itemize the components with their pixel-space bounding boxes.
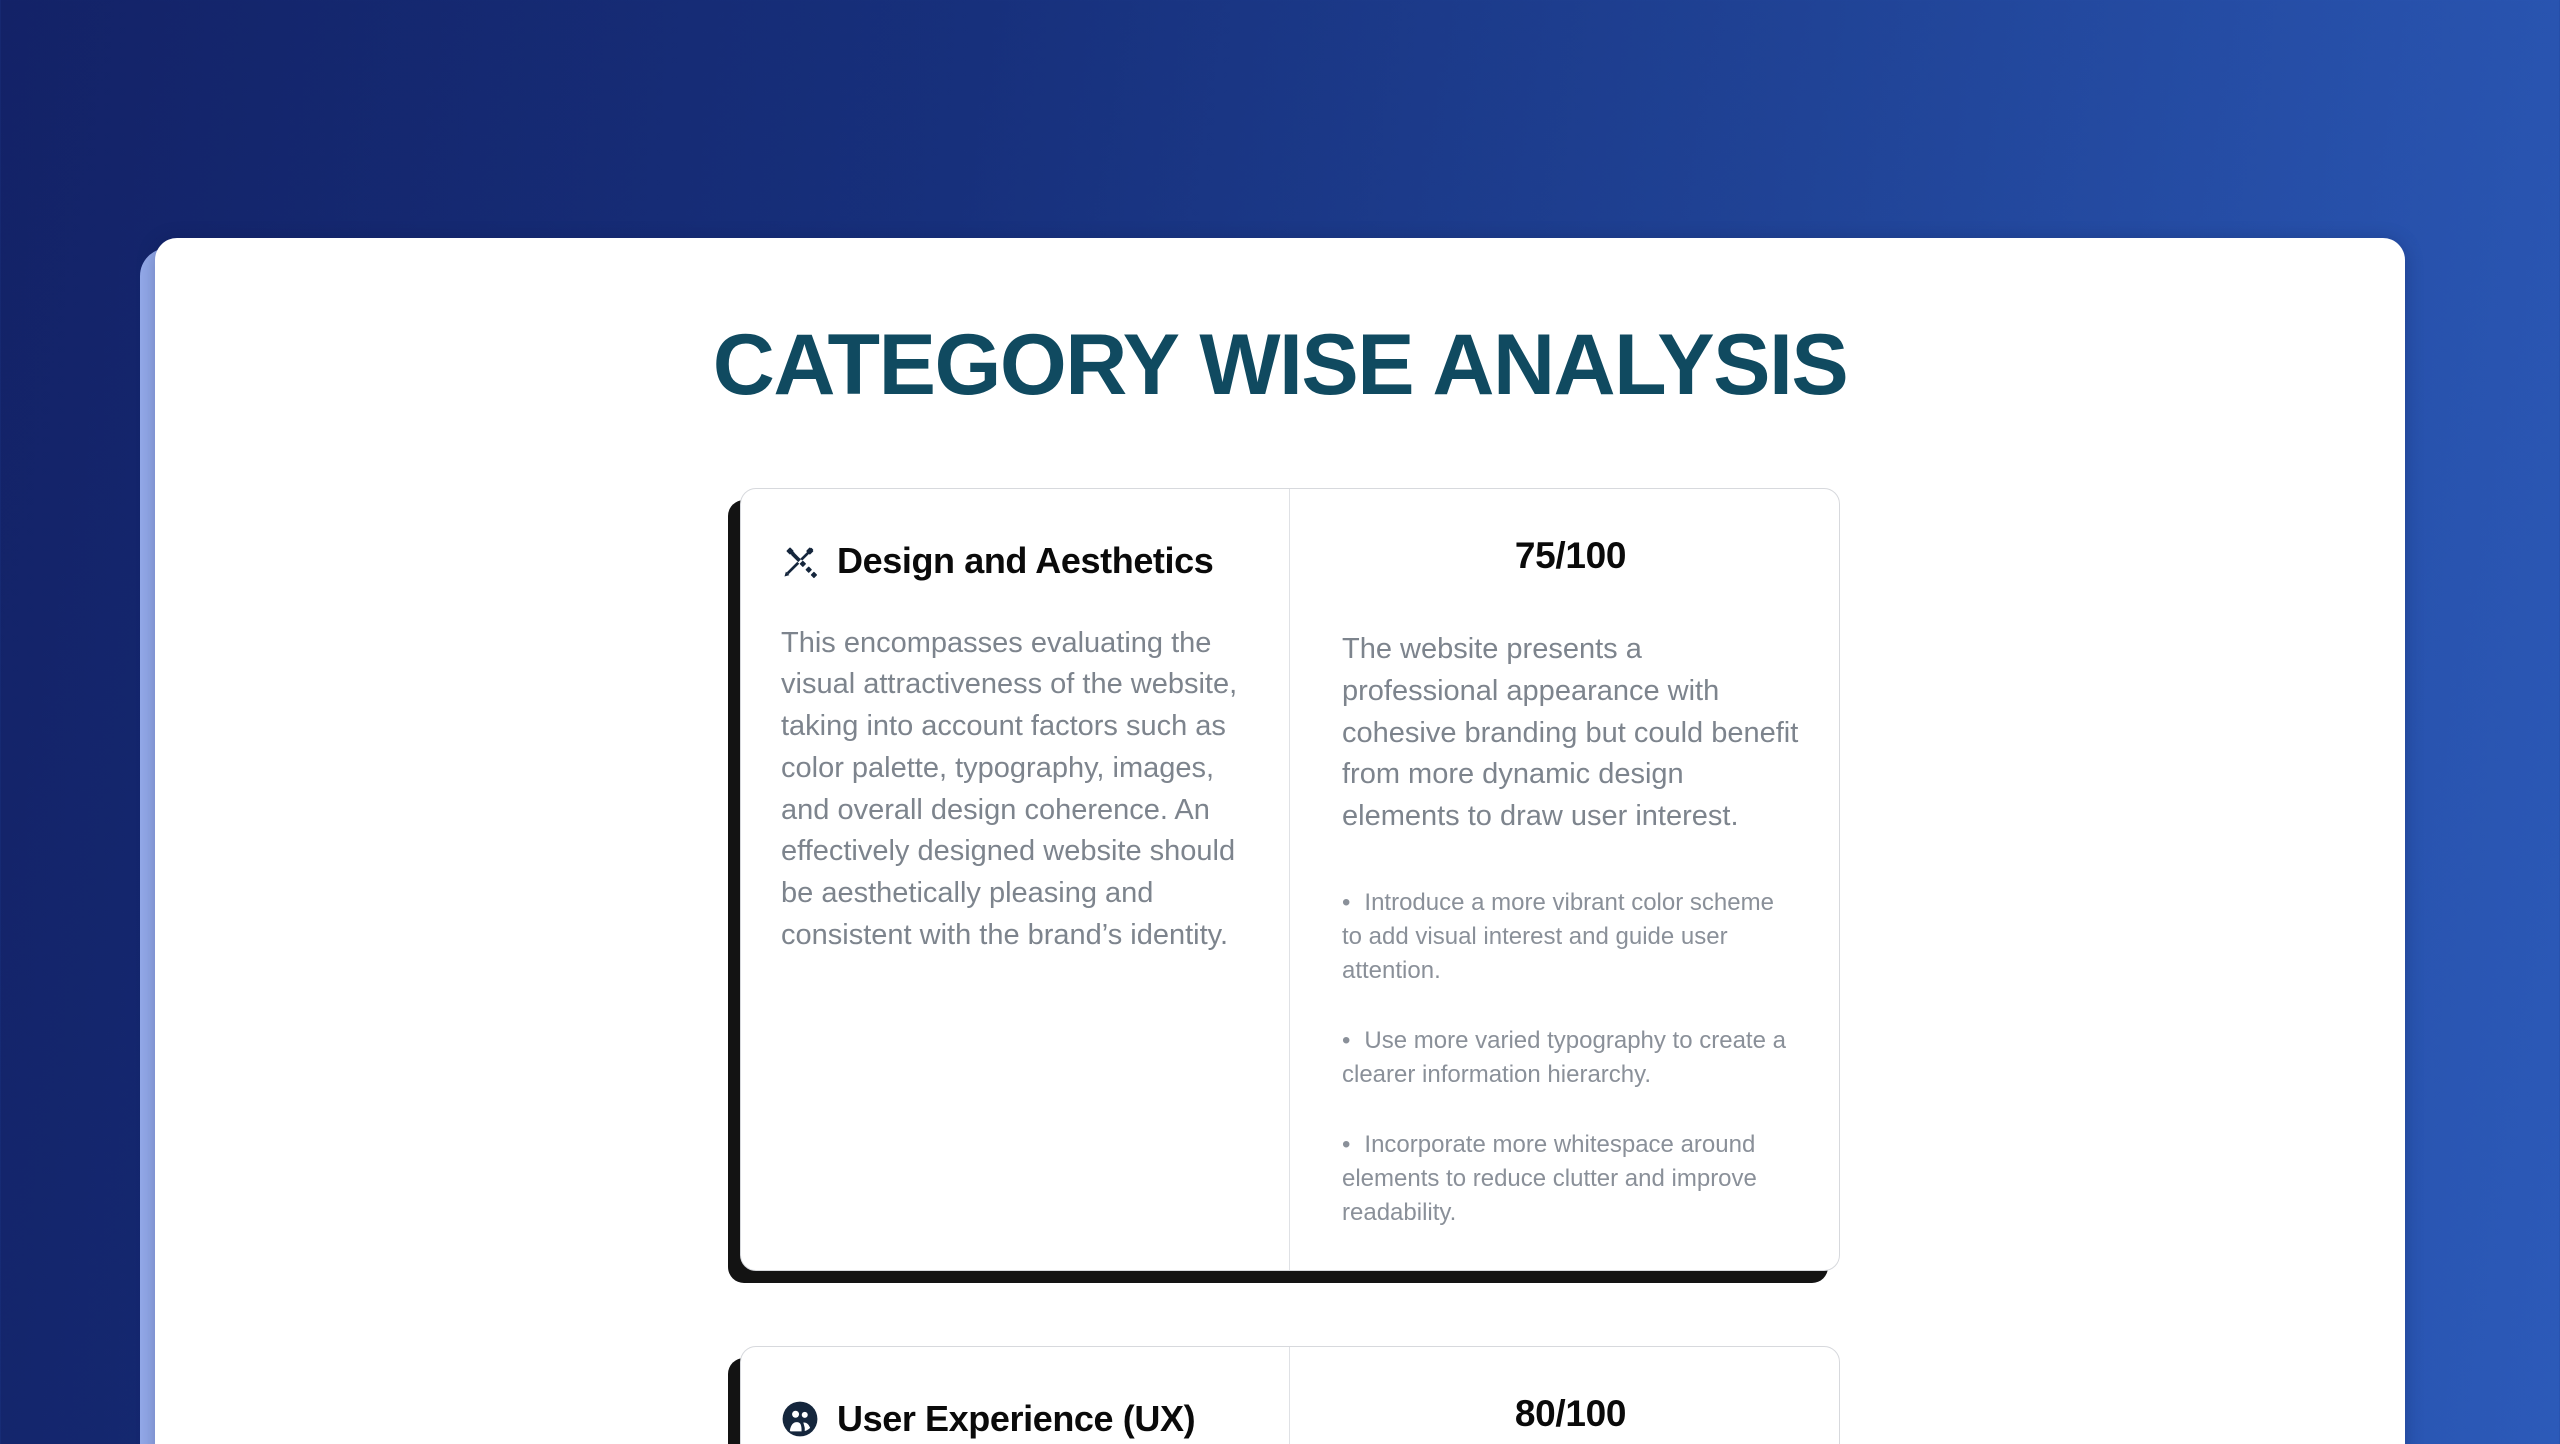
recommendation-item: •Use more varied typography to create a …	[1342, 1024, 1799, 1092]
recommendation-text: Introduce a more vibrant color scheme to…	[1342, 889, 1774, 984]
page-title: CATEGORY WISE ANALYSIS	[215, 322, 2345, 408]
category-header: Design and Aesthetics	[781, 541, 1245, 581]
bullet-icon: •	[1342, 1027, 1350, 1054]
recommendation-text: Use more varied typography to create a c…	[1342, 1027, 1786, 1088]
bullet-icon: •	[1342, 1131, 1350, 1158]
category-card[interactable]: Design and Aesthetics This encompasses e…	[740, 488, 1840, 1271]
category-score-column: 80/100 The user experience is straightfo…	[1290, 1347, 1839, 1444]
category-title: Design and Aesthetics	[837, 541, 1213, 581]
recommendation-item: •Incorporate more whitespace around elem…	[1342, 1128, 1799, 1230]
category-description-column: Design and Aesthetics This encompasses e…	[741, 489, 1290, 1270]
category-header: User Experience (UX)	[781, 1399, 1245, 1439]
score-badge: 75/100	[1342, 535, 1799, 577]
category-title: User Experience (UX)	[837, 1399, 1195, 1439]
category-description: This encompasses evaluating the visual a…	[781, 623, 1245, 957]
score-badge: 80/100	[1342, 1393, 1799, 1435]
recommendation-item: •Introduce a more vibrant color scheme t…	[1342, 886, 1799, 988]
category-cards-list: Design and Aesthetics This encompasses e…	[215, 488, 2345, 1444]
category-summary: The website presents a professional appe…	[1342, 629, 1799, 838]
design-tools-icon	[781, 542, 819, 580]
bullet-icon: •	[1342, 889, 1350, 916]
category-card[interactable]: User Experience (UX) This requires evalu…	[740, 1346, 1840, 1444]
category-score-column: 75/100 The website presents a profession…	[1290, 489, 1839, 1270]
report-page-sheet: CATEGORY WISE ANALYSIS	[155, 238, 2405, 1444]
recommendation-text: Incorporate more whitespace around eleme…	[1342, 1131, 1757, 1226]
recommendations-list: •Introduce a more vibrant color scheme t…	[1342, 886, 1799, 1231]
users-circle-icon	[781, 1400, 819, 1438]
category-description-column: User Experience (UX) This requires evalu…	[741, 1347, 1290, 1444]
